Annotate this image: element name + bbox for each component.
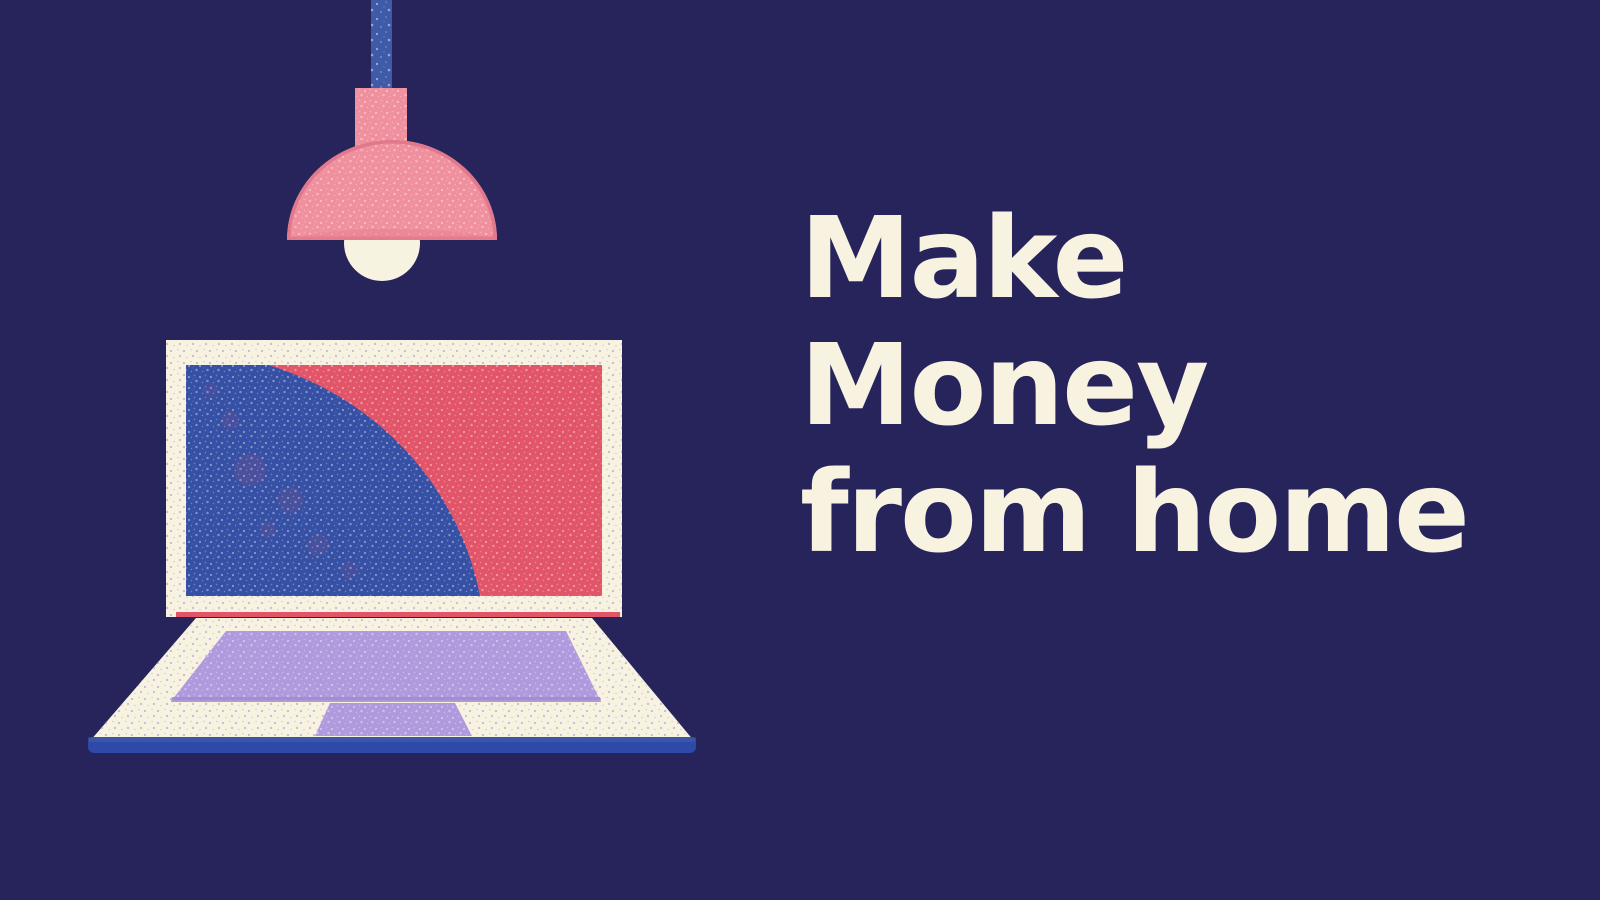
headline-line-2: Money — [800, 323, 1540, 450]
headline-line-1: Make — [800, 196, 1540, 323]
poster-canvas: Make Money from home — [0, 0, 1600, 900]
headline: Make Money from home — [800, 196, 1540, 577]
headline-line-3: from home — [800, 450, 1540, 577]
